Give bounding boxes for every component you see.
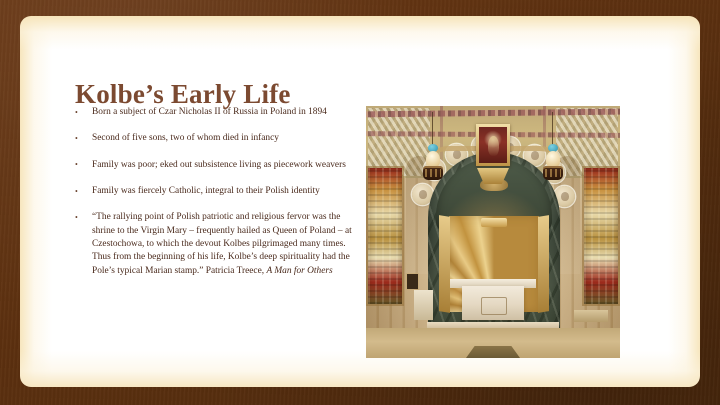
stone-bench bbox=[574, 310, 608, 322]
wall-tapestry-left bbox=[368, 168, 402, 304]
bullet-glyph-icon: • bbox=[75, 133, 78, 144]
icon-painting bbox=[479, 127, 507, 163]
list-item: • Family was poor; eked out subsistence … bbox=[70, 159, 358, 172]
reredos-wing-left bbox=[439, 215, 450, 313]
marble-altar bbox=[462, 286, 524, 320]
slide: Kolbe’s Early Life • Born a subject of C… bbox=[0, 0, 720, 405]
photo-scene bbox=[366, 106, 620, 358]
wall-plaque bbox=[407, 274, 418, 289]
lamp-chain bbox=[432, 112, 433, 146]
wall-tapestry-right bbox=[584, 168, 618, 304]
list-item: • Second of five sons, two of whom died … bbox=[70, 132, 358, 145]
shrine-chapel-photo bbox=[366, 106, 620, 358]
reredos-top-cap bbox=[481, 218, 507, 227]
bullet-glyph-icon: • bbox=[75, 212, 78, 223]
virgin-mary-icon bbox=[476, 124, 510, 166]
lamp-body bbox=[543, 166, 563, 180]
lamp-chain bbox=[552, 112, 553, 146]
bullet-glyph-icon: • bbox=[75, 159, 78, 170]
slide-content-panel: Kolbe’s Early Life • Born a subject of C… bbox=[20, 16, 700, 387]
marble-floor bbox=[366, 328, 620, 358]
stone-pedestal bbox=[414, 290, 433, 320]
list-item-quote: • “The rallying point of Polish patrioti… bbox=[70, 211, 358, 278]
lamp-body bbox=[423, 166, 443, 180]
bullet-list: • Born a subject of Czar Nicholas II of … bbox=[70, 106, 358, 278]
list-item-text: Family was poor; eked out subsistence li… bbox=[92, 160, 346, 170]
list-item: • Born a subject of Czar Nicholas II of … bbox=[70, 106, 358, 119]
list-item-text: Born a subject of Czar Nicholas II of Ru… bbox=[92, 107, 327, 117]
list-item-text: Second of five sons, two of whom died in… bbox=[92, 133, 279, 143]
list-item-text: Family was fiercely Catholic, integral t… bbox=[92, 186, 320, 196]
bullet-glyph-icon: • bbox=[75, 107, 78, 118]
reredos-wing-right bbox=[538, 215, 549, 313]
bullet-glyph-icon: • bbox=[75, 186, 78, 197]
list-item: • Family was fiercely Catholic, integral… bbox=[70, 185, 358, 198]
citation-title: A Man for Others bbox=[266, 266, 332, 276]
